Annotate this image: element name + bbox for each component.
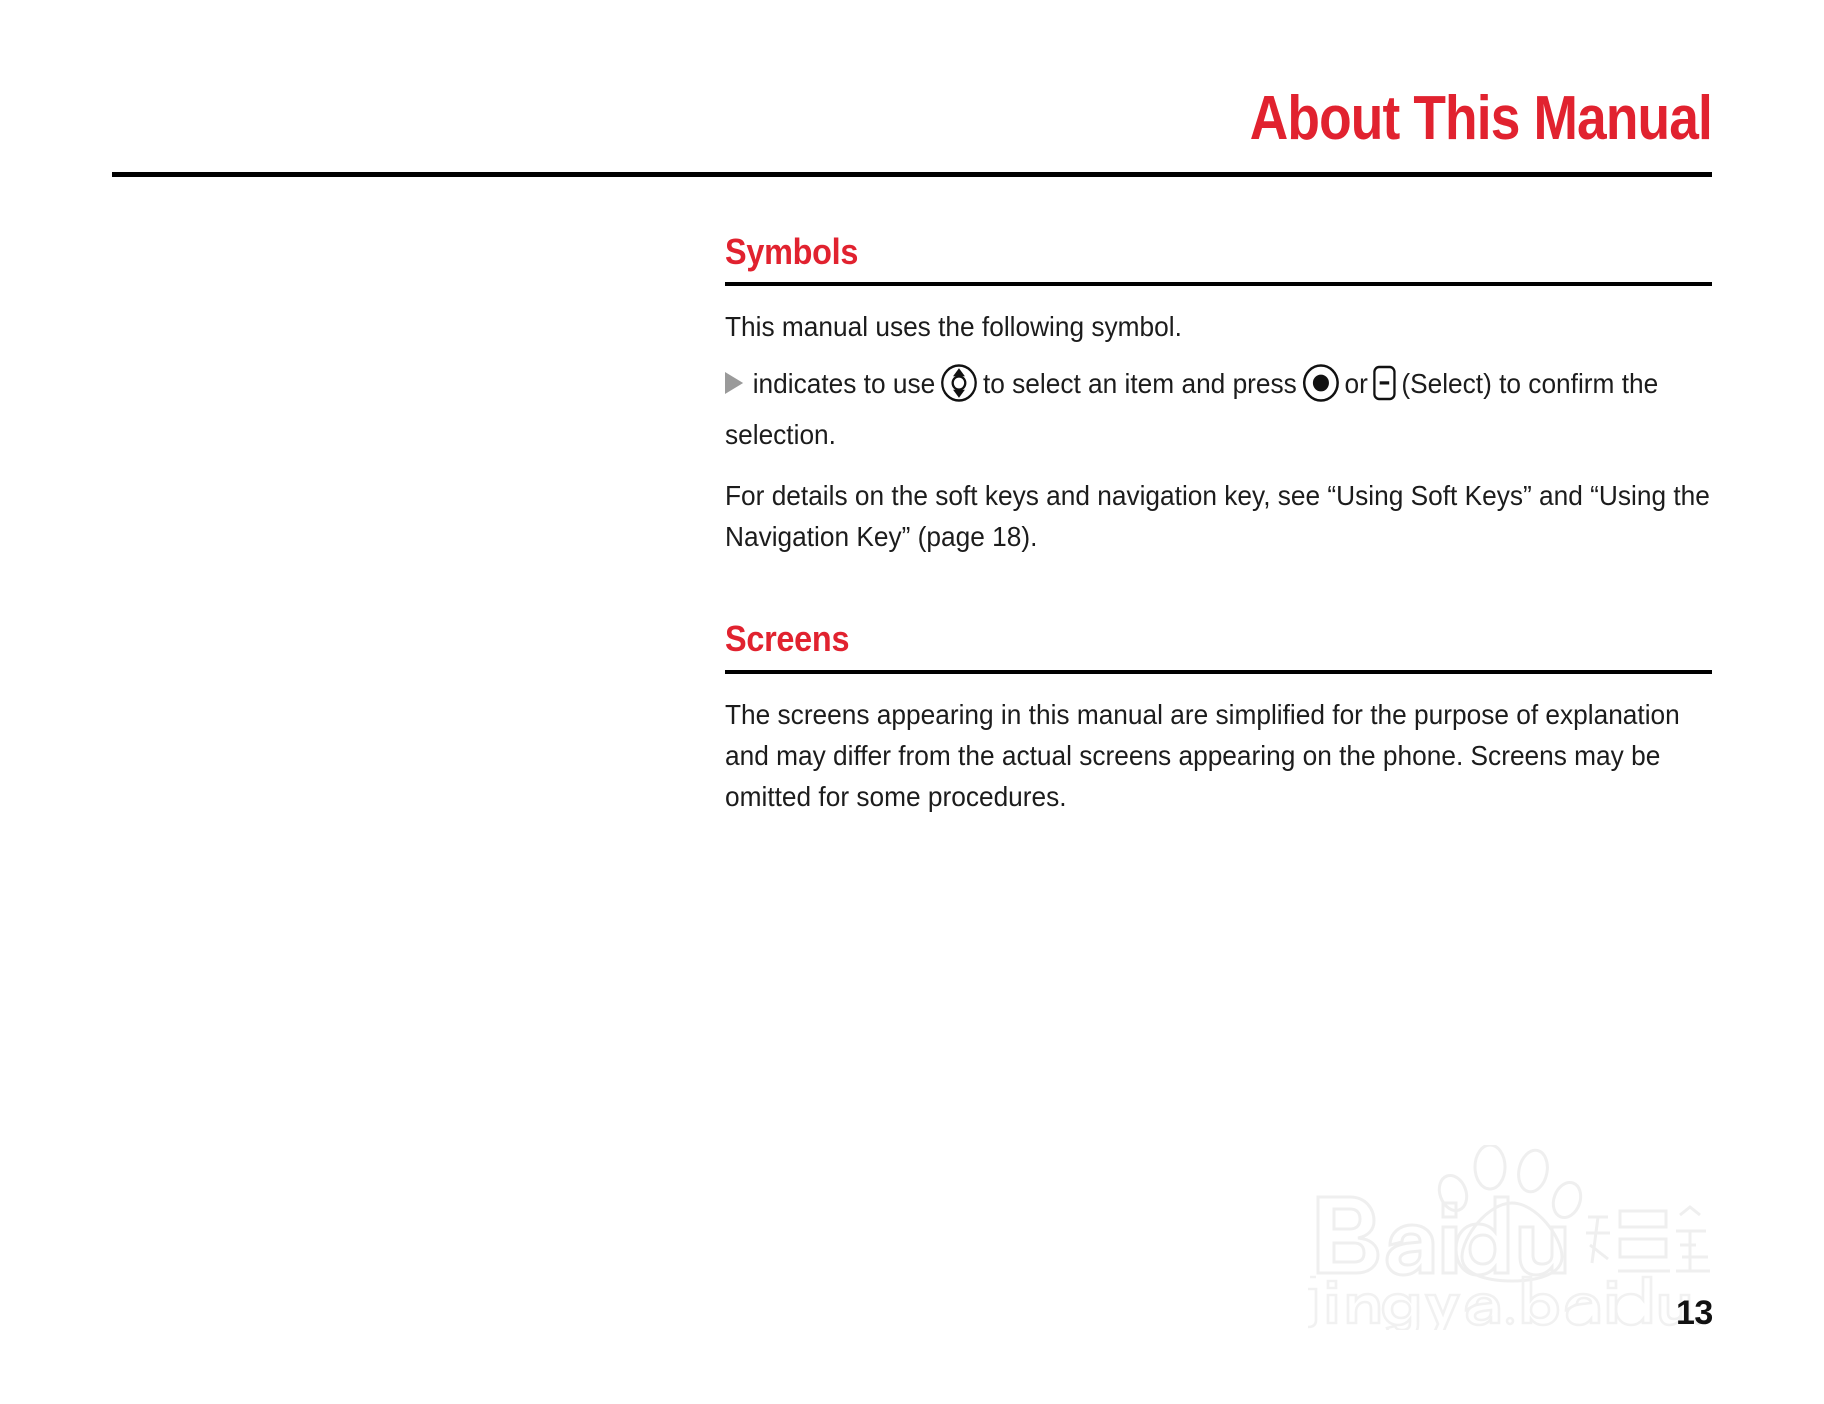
navigation-key-icon: [940, 363, 978, 414]
symbols-legend-paragraph: indicates to useto select an item and pr…: [725, 363, 1712, 455]
symbols-details-paragraph: For details on the soft keys and navigat…: [725, 475, 1712, 557]
soft-key-icon: [1373, 365, 1397, 412]
symbols-intro-paragraph: This manual uses the following symbol.: [725, 306, 1712, 347]
header-divider: [112, 172, 1712, 177]
section-divider-screens: [725, 670, 1712, 674]
manual-page: About This Manual Symbols This manual us…: [0, 0, 1824, 1404]
content-column: Symbols This manual uses the following s…: [725, 232, 1712, 817]
baidu-watermark: [1290, 1145, 1720, 1330]
page-number: 13: [1676, 1294, 1713, 1333]
center-select-key-icon: [1302, 363, 1340, 414]
screens-body-paragraph: The screens appearing in this manual are…: [725, 694, 1712, 817]
section-divider-symbols: [725, 282, 1712, 286]
section-screens: Screens The screens appearing in this ma…: [725, 619, 1712, 816]
section-heading-screens: Screens: [725, 619, 1613, 659]
triangle-bullet-icon: [725, 372, 743, 394]
section-symbols: Symbols This manual uses the following s…: [725, 232, 1712, 557]
page-header: About This Manual: [112, 88, 1712, 177]
section-heading-symbols: Symbols: [725, 232, 1613, 272]
legend-text-part3: or: [1345, 368, 1368, 399]
page-title: About This Manual: [336, 88, 1712, 150]
legend-text-part1: indicates to use: [753, 368, 935, 399]
legend-text-part2: to select an item and press: [983, 368, 1297, 399]
